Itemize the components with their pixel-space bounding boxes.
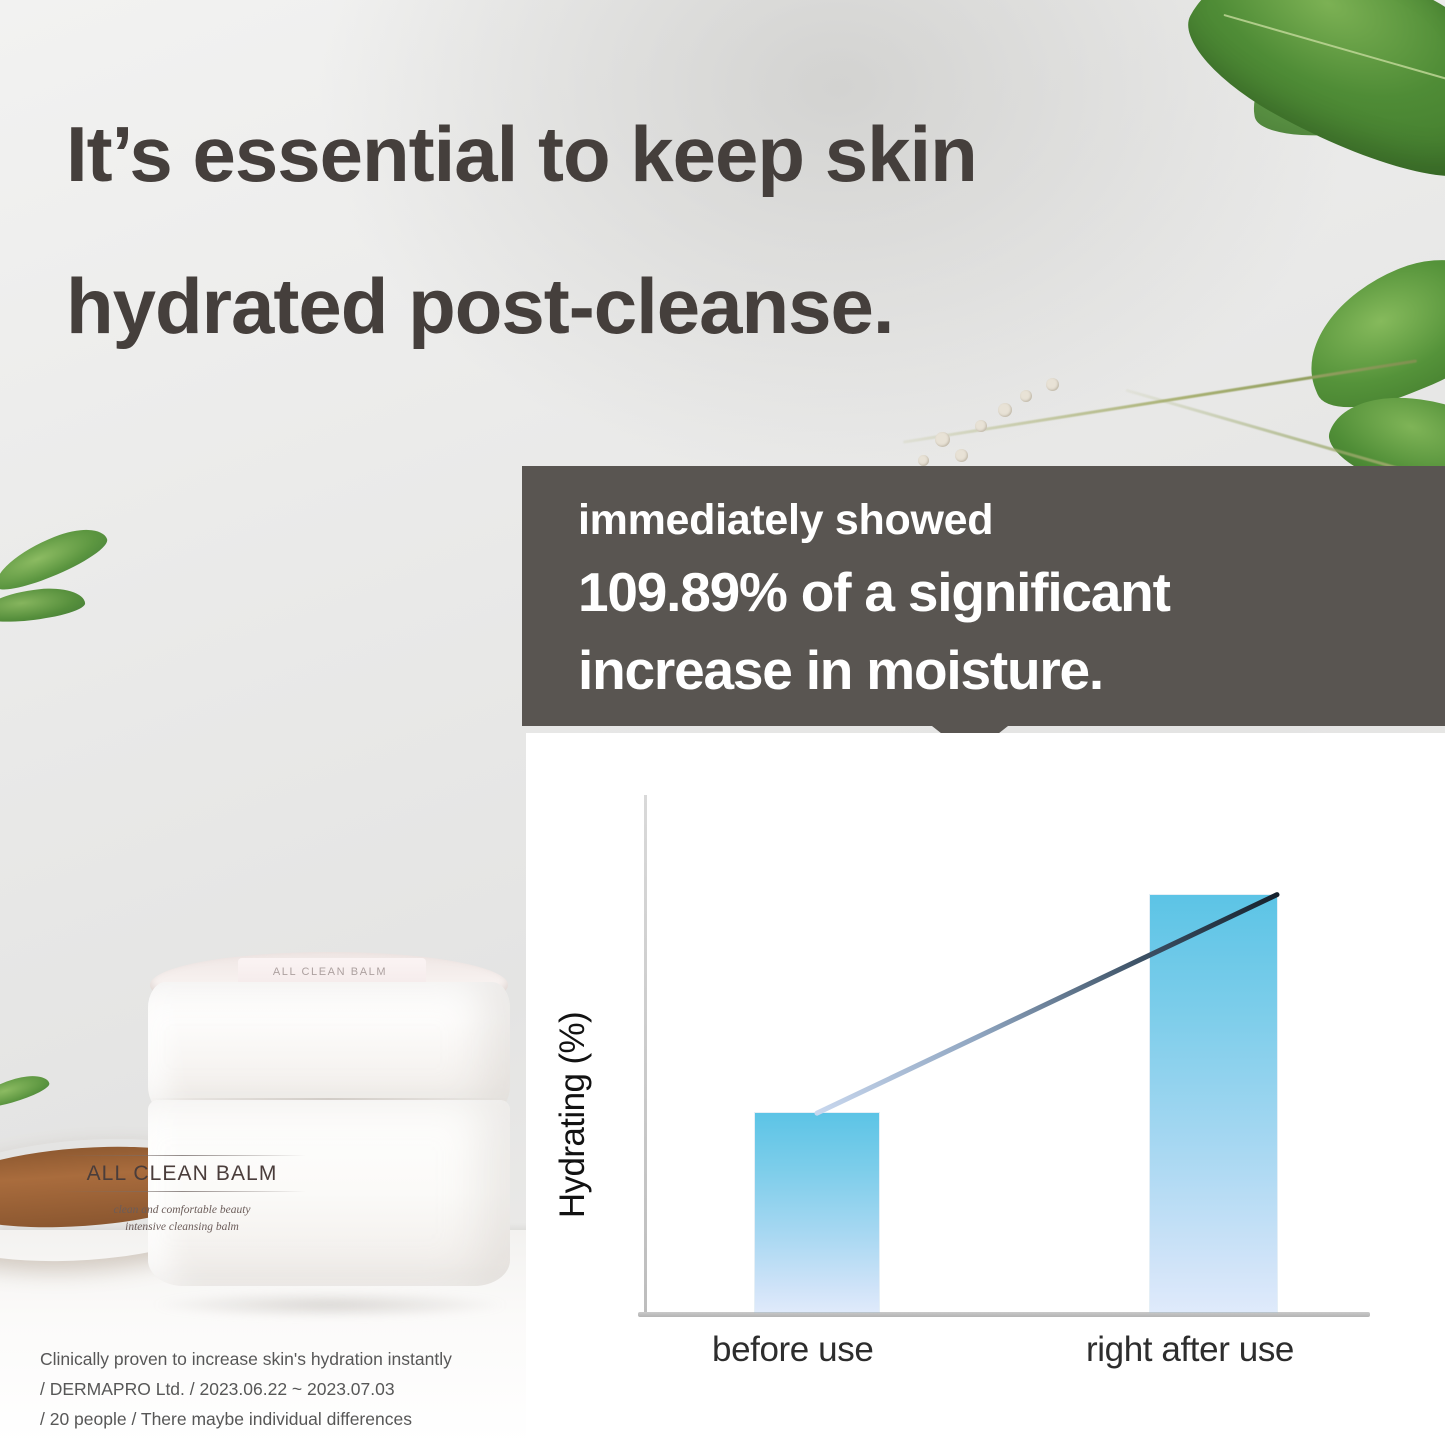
footnote-line-2: / DERMAPRO Ltd. / 2023.06.22 ~ 2023.07.0… bbox=[40, 1374, 530, 1404]
headline-line-1: It’s essential to keep skin bbox=[66, 78, 1226, 230]
chart-y-axis-label: Hydrating (%) bbox=[553, 965, 593, 1265]
leaf-icon bbox=[0, 585, 86, 626]
jar-lid bbox=[148, 982, 510, 1112]
stat-callout-box: immediately showed 109.89% of a signific… bbox=[522, 466, 1445, 726]
chart-plot-area: before use right after use Hydrating (%) bbox=[526, 733, 1445, 1445]
product-tagline-1: clean and comfortable beauty bbox=[58, 1202, 306, 1219]
leaf-icon bbox=[0, 519, 112, 597]
chart-bar-before-use bbox=[755, 1113, 879, 1312]
callout-line-1: immediately showed bbox=[578, 488, 1418, 553]
footnote: Clinically proven to increase skin's hyd… bbox=[40, 1344, 530, 1434]
product-label: ALL CLEAN BALM clean and comfortable bea… bbox=[58, 1155, 306, 1235]
berry bbox=[955, 449, 968, 462]
berry bbox=[1020, 390, 1032, 402]
stat-callout-text: immediately showed 109.89% of a signific… bbox=[578, 488, 1418, 709]
footnote-line-1: Clinically proven to increase skin's hyd… bbox=[40, 1344, 530, 1374]
leaf-icon bbox=[1285, 234, 1445, 426]
product-name: ALL CLEAN BALM bbox=[58, 1156, 306, 1191]
leaf-icon bbox=[0, 1070, 52, 1112]
callout-line-2: 109.89% of a significant bbox=[578, 553, 1418, 631]
footnote-line-3: / 20 people / There maybe individual dif… bbox=[40, 1404, 530, 1434]
berry bbox=[998, 403, 1012, 417]
headline: It’s essential to keep skin hydrated pos… bbox=[66, 78, 1226, 382]
berry bbox=[918, 455, 929, 466]
chart-y-axis bbox=[644, 795, 647, 1315]
headline-line-2: hydrated post-cleanse. bbox=[66, 230, 1226, 382]
callout-line-3: increase in moisture. bbox=[578, 631, 1418, 709]
chart-panel: before use right after use Hydrating (%) bbox=[526, 733, 1445, 1445]
chart-trend-line bbox=[526, 733, 1445, 1445]
product-jar: ALL CLEAN BALM bbox=[148, 952, 510, 1304]
product-tagline-2: intensive cleansing balm bbox=[58, 1219, 306, 1236]
chart-xtick-before-use: before use bbox=[712, 1330, 873, 1370]
label-rule-bottom bbox=[58, 1191, 306, 1192]
chart-xtick-right-after-use: right after use bbox=[1086, 1330, 1294, 1370]
berry bbox=[975, 420, 987, 432]
chart-x-axis bbox=[638, 1312, 1370, 1317]
berry bbox=[935, 432, 950, 447]
jar-lid-sticker-label: ALL CLEAN BALM bbox=[244, 966, 416, 978]
chart-bar-right-after-use bbox=[1150, 895, 1277, 1312]
